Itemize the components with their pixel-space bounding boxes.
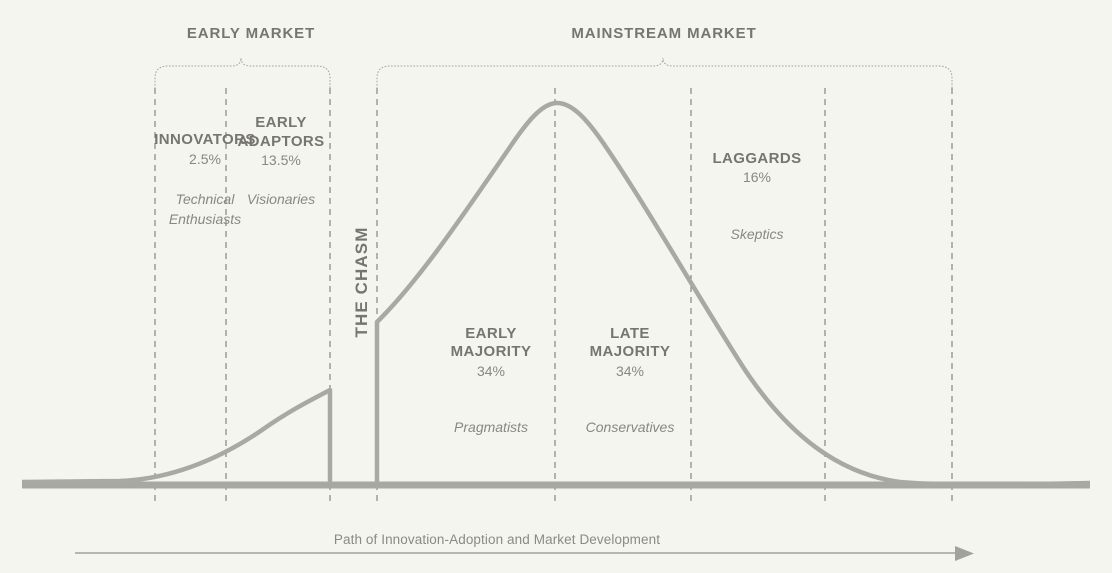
- mainstream-market-brace: [377, 58, 952, 92]
- segment-early-adaptors-name-line1: EARLY: [210, 114, 352, 133]
- segment-early-adaptors-alias: Visionaries: [210, 191, 352, 209]
- segment-late-majority-name-line1: LATE: [540, 325, 720, 344]
- segment-laggards-percent: 16%: [667, 169, 847, 187]
- mainstream-market-title: MAINSTREAM MARKET: [564, 25, 764, 44]
- segment-innovators-alias-line2: Enthusiasts: [115, 211, 295, 229]
- adoption-lifecycle-diagram: EARLY MARKET MAINSTREAM MARKET THE CHASM…: [0, 0, 1112, 573]
- segment-late-majority-percent: 34%: [540, 363, 720, 381]
- segment-early-adaptors-name-line2: ADAPTORS: [210, 133, 352, 152]
- early-market-brace: [155, 58, 330, 92]
- segment-laggards-name: LAGGARDS: [667, 150, 847, 169]
- segment-late-majority-name-line2: MAJORITY: [540, 343, 720, 362]
- early-market-curve: [22, 390, 330, 483]
- path-axis-caption: Path of Innovation-Adoption and Market D…: [297, 532, 697, 549]
- segment-early-adaptors-percent: 13.5%: [210, 152, 352, 170]
- segment-late-majority-alias: Conservatives: [540, 419, 720, 437]
- the-chasm-label: THE CHASM: [352, 212, 372, 352]
- diagram-canvas: [0, 0, 1112, 573]
- segment-laggards-alias: Skeptics: [667, 226, 847, 244]
- early-market-title: EARLY MARKET: [151, 25, 351, 44]
- right-arrow-icon: [955, 546, 974, 561]
